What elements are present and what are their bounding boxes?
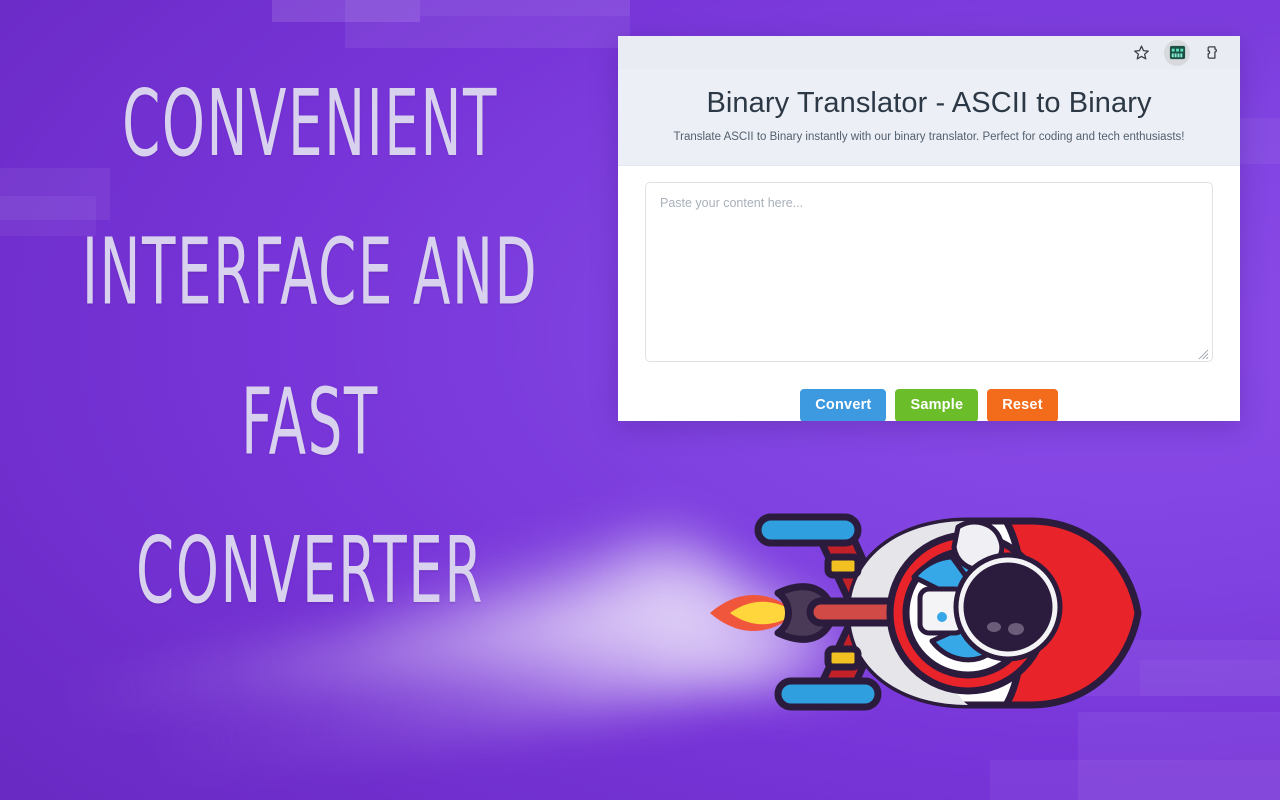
input-wrapper: [645, 182, 1213, 367]
promo-banner: Convenient interface and fast converter: [0, 0, 1280, 800]
convert-button[interactable]: Convert: [800, 389, 886, 421]
promo-headline: Convenient interface and fast converter: [68, 50, 552, 646]
page-subtitle: Translate ASCII to Binary instantly with…: [636, 130, 1222, 145]
browser-window: Binary Translator - ASCII to Binary Tran…: [618, 36, 1240, 421]
action-buttons: Convert Sample Reset: [645, 367, 1213, 421]
reset-button[interactable]: Reset: [987, 389, 1058, 421]
sample-button[interactable]: Sample: [895, 389, 978, 421]
content-input[interactable]: [645, 182, 1213, 362]
extension-avatar-icon[interactable]: [1160, 40, 1194, 66]
page-body: Convert Sample Reset: [618, 166, 1240, 421]
page-header: Binary Translator - ASCII to Binary Tran…: [618, 69, 1240, 166]
puzzle-piece-icon[interactable]: [1196, 40, 1230, 66]
page-title: Binary Translator - ASCII to Binary: [636, 85, 1222, 121]
browser-toolbar: [618, 36, 1240, 69]
star-icon[interactable]: [1124, 40, 1158, 66]
rocket-illustration: [700, 495, 1150, 730]
